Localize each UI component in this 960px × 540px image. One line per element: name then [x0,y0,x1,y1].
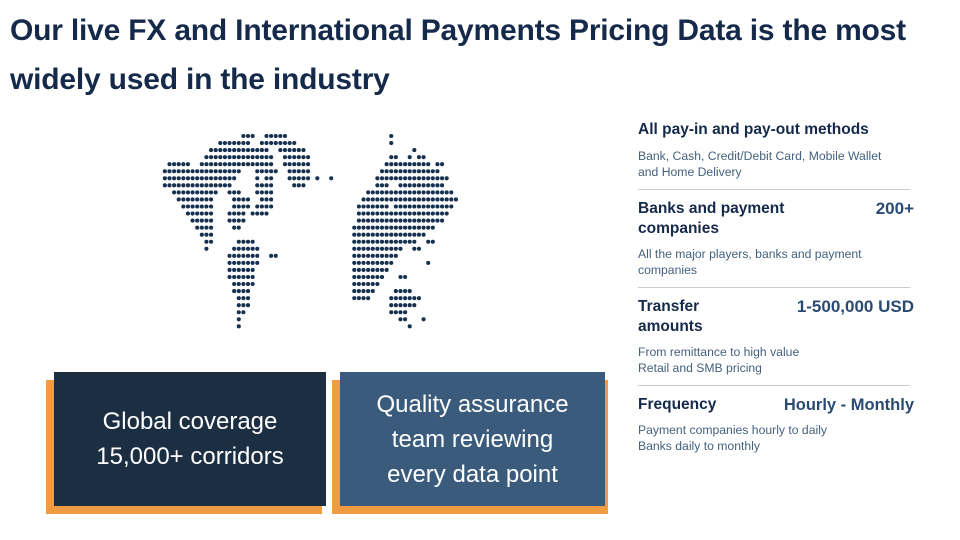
panel-row-header: All pay-in and pay-out methods [638,120,914,140]
panel-row-title: Banks and payment companies [638,199,808,239]
panel-row-frequency: Frequency Hourly - Monthly Payment compa… [638,395,914,454]
panel-row-description: Bank, Cash, Credit/Debit Card, Mobile Wa… [638,148,914,180]
panel-row-desc-line2: Banks daily to monthly [638,438,914,454]
slide-root: Our live FX and International Payments P… [0,0,960,540]
panel-row-desc-line1: All the major players, banks and payment [638,246,914,262]
panel-row-value: 1-500,000 USD [797,297,914,317]
quality-assurance-line3: every data point [376,457,568,492]
panel-row-desc-line2: and Home Delivery [638,164,914,180]
panel-row-description: From remittance to high value Retail and… [638,344,914,376]
panel-row-description: Payment companies hourly to daily Banks … [638,422,914,454]
panel-row-value: 200+ [876,199,914,219]
quality-assurance-card: Quality assurance team reviewing every d… [340,372,605,506]
panel-row-desc-line2: companies [638,262,914,278]
panel-row-desc-line2: Retail and SMB pricing [638,360,914,376]
panel-row-desc-line1: Bank, Cash, Credit/Debit Card, Mobile Wa… [638,148,914,164]
pricing-data-panel: All pay-in and pay-out methods Bank, Cas… [638,120,914,454]
panel-row-header: Transfer amounts 1-500,000 USD [638,297,914,337]
panel-row-title: Frequency [638,395,758,415]
panel-row-header: Banks and payment companies 200+ [638,199,914,239]
quality-assurance-line2: team reviewing [376,422,568,457]
panel-separator [638,189,910,190]
panel-row-pay-methods: All pay-in and pay-out methods Bank, Cas… [638,120,914,180]
panel-row-title: Transfer amounts [638,297,758,337]
panel-row-desc-line1: From remittance to high value [638,344,914,360]
global-coverage-card: Global coverage 15,000+ corridors [54,372,326,506]
panel-row-value: Hourly - Monthly [784,395,914,415]
quality-assurance-line1: Quality assurance [376,387,568,422]
panel-row-transfer-amounts: Transfer amounts 1-500,000 USD From remi… [638,297,914,376]
page-title: Our live FX and International Payments P… [10,6,940,104]
world-map-icon [148,132,508,362]
world-map-dotted [148,132,508,362]
panel-row-title: All pay-in and pay-out methods [638,120,914,140]
panel-row-description: All the major players, banks and payment… [638,246,914,278]
global-coverage-line1: Global coverage [96,404,283,439]
global-coverage-line2: 15,000+ corridors [96,439,283,474]
panel-row-desc-line1: Payment companies hourly to daily [638,422,914,438]
panel-separator [638,385,910,386]
panel-separator [638,287,910,288]
panel-row-header: Frequency Hourly - Monthly [638,395,914,415]
panel-row-banks: Banks and payment companies 200+ All the… [638,199,914,278]
